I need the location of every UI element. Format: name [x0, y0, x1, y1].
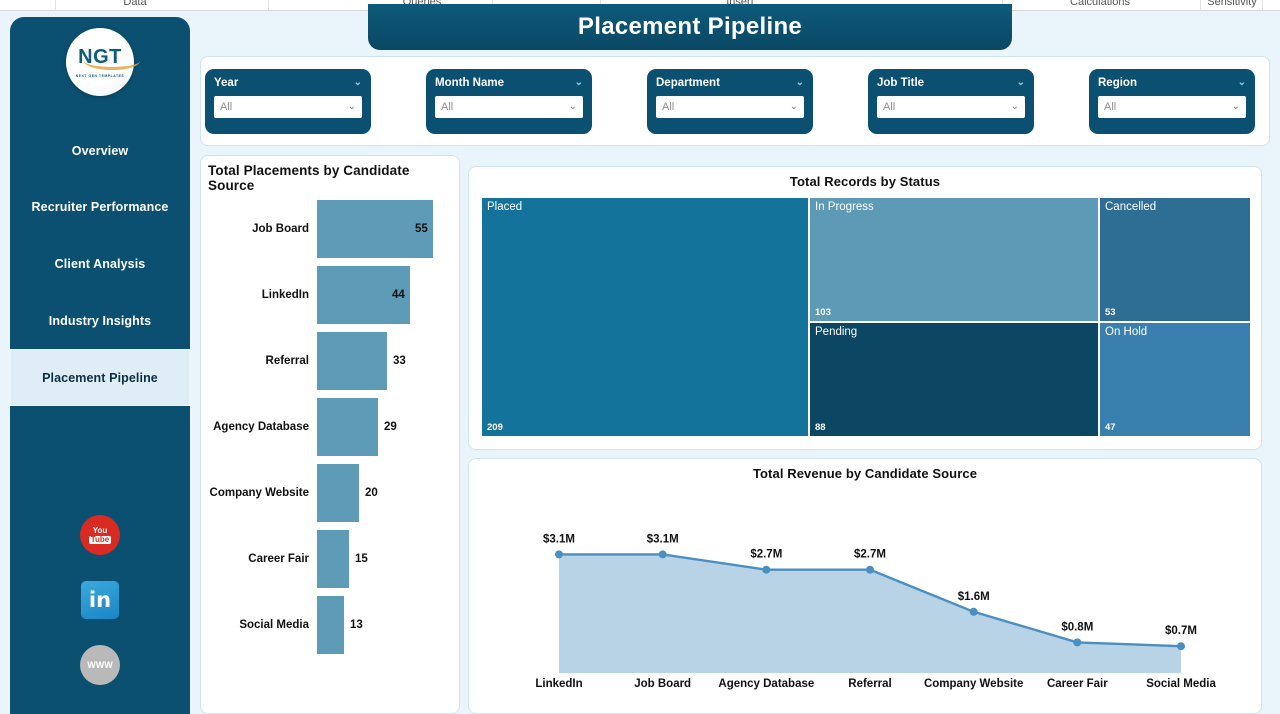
ribbon-group-data[interactable]: Data	[123, 0, 146, 8]
slicer-dropdown-job-title[interactable]: All⌄	[877, 96, 1025, 118]
bar-fill[interactable]	[317, 398, 378, 456]
revenue-data-label: $3.1M	[543, 533, 575, 545]
slicer-header: Month Name⌄	[435, 77, 583, 89]
bar-value-label: 20	[365, 487, 378, 499]
x-axis-tick-label: Career Fair	[1026, 677, 1130, 713]
placements-bar-rows: Job Board55LinkedIn44Referral33Agency Da…	[201, 196, 459, 701]
website-icon-glyph: WWW	[87, 660, 112, 670]
revenue-data-point[interactable]	[555, 550, 563, 558]
ribbon-divider	[1262, 0, 1263, 11]
revenue-data-point[interactable]	[970, 608, 978, 616]
filter-bar: Year⌄All⌄Month Name⌄All⌄Department⌄All⌄J…	[200, 56, 1270, 146]
placements-chart-title: Total Placements by Candidate Source	[201, 156, 459, 193]
treemap-tile-value: 209	[487, 422, 503, 433]
website-icon[interactable]: WWW	[80, 645, 120, 685]
treemap-tile-value: 103	[815, 307, 831, 318]
revenue-area-svg: $3.1M$3.1M$2.7M$2.7M$1.6M$0.8M$0.7M	[469, 485, 1263, 685]
slicer-header: Year⌄	[214, 77, 362, 89]
bar-category-label: Company Website	[201, 487, 317, 499]
slicer-header: Job Title⌄	[877, 77, 1025, 89]
treemap-tile-label: Placed	[487, 201, 522, 213]
page-title-banner: Placement Pipeline	[368, 4, 1012, 50]
slicer-header: Region⌄	[1098, 77, 1246, 89]
x-axis-tick-label: Referral	[818, 677, 922, 713]
bar-category-label: Career Fair	[201, 553, 317, 565]
revenue-data-label: $2.7M	[854, 549, 886, 561]
sidebar-item-placement-pipeline[interactable]: Placement Pipeline	[10, 349, 190, 406]
ribbon-group-calculations[interactable]: Calculations	[1070, 0, 1130, 8]
x-axis-tick-label: Agency Database	[715, 677, 819, 713]
slicer-value: All	[220, 101, 232, 113]
youtube-icon-line1: You	[93, 527, 108, 535]
revenue-chart-title: Total Revenue by Candidate Source	[469, 459, 1261, 481]
bar-value-label: 15	[355, 553, 368, 565]
slicer-value: All	[1104, 101, 1116, 113]
sidebar-item-overview[interactable]: Overview	[10, 122, 190, 179]
sidebar: NGT NEXT GEN TEMPLATES OverviewRecruiter…	[10, 17, 190, 714]
sidebar-item-label: Industry Insights	[49, 314, 151, 328]
slicer-region[interactable]: Region⌄All⌄	[1089, 69, 1255, 134]
revenue-data-point[interactable]	[1073, 638, 1081, 646]
slicer-month-name[interactable]: Month Name⌄All⌄	[426, 69, 592, 134]
slicer-header: Department⌄	[656, 77, 804, 89]
bar-track: 13	[317, 592, 459, 658]
revenue-data-point[interactable]	[762, 566, 770, 574]
treemap-tile-cancelled[interactable]: Cancelled53	[1099, 197, 1251, 322]
revenue-data-label: $3.1M	[647, 533, 679, 545]
slicer-value: All	[662, 101, 674, 113]
bar-category-label: Agency Database	[201, 421, 317, 433]
chevron-down-icon[interactable]: ⌄	[1232, 102, 1240, 112]
bar-category-label: Referral	[201, 355, 317, 367]
bar-row[interactable]: Company Website20	[201, 460, 459, 526]
slicer-job-title[interactable]: Job Title⌄All⌄	[868, 69, 1034, 134]
chevron-down-icon[interactable]: ⌄	[790, 102, 798, 112]
sidebar-item-industry-insights[interactable]: Industry Insights	[10, 292, 190, 349]
chevron-down-icon[interactable]: ⌄	[569, 102, 577, 112]
slicer-value: All	[441, 101, 453, 113]
treemap-tile-pending[interactable]: Pending88	[809, 322, 1099, 437]
ribbon-divider	[1200, 0, 1201, 11]
treemap-tile-placed[interactable]: Placed209	[481, 197, 809, 437]
revenue-data-point[interactable]	[866, 566, 874, 574]
bar-value-label: 55	[415, 223, 428, 235]
bar-track: 29	[317, 394, 459, 460]
bar-track: 15	[317, 526, 459, 592]
report-canvas: Placement Pipeline NGT NEXT GEN TEMPLATE…	[0, 11, 1280, 714]
revenue-x-axis: LinkedInJob BoardAgency DatabaseReferral…	[469, 677, 1263, 713]
treemap-tile-label: Pending	[815, 326, 857, 338]
revenue-data-label: $0.7M	[1165, 625, 1197, 637]
bar-row[interactable]: Career Fair15	[201, 526, 459, 592]
x-axis-tick-label: LinkedIn	[507, 677, 611, 713]
bar-fill[interactable]	[317, 596, 344, 654]
treemap-tile-in-progress[interactable]: In Progress103	[809, 197, 1099, 322]
bar-value-label: 33	[393, 355, 406, 367]
logo: NGT NEXT GEN TEMPLATES	[66, 28, 134, 96]
chevron-down-icon[interactable]: ⌄	[1238, 78, 1246, 88]
bar-row[interactable]: Job Board55	[201, 196, 459, 262]
sidebar-item-label: Client Analysis	[55, 257, 146, 271]
chevron-down-icon[interactable]: ⌄	[354, 78, 362, 88]
logo-swoosh-icon	[84, 61, 140, 70]
linkedin-icon-glyph: in	[81, 581, 119, 619]
treemap-tile-label: In Progress	[815, 201, 874, 213]
sidebar-item-recruiter-performance[interactable]: Recruiter Performance	[10, 178, 190, 235]
revenue-area-plot: $3.1M$3.1M$2.7M$2.7M$1.6M$0.8M$0.7M	[469, 485, 1263, 685]
slicer-dropdown-region[interactable]: All⌄	[1098, 96, 1246, 118]
slicer-department[interactable]: Department⌄All⌄	[647, 69, 813, 134]
bar-category-label: Job Board	[201, 223, 317, 235]
chevron-down-icon[interactable]: ⌄	[575, 78, 583, 88]
x-axis-tick-label: Company Website	[922, 677, 1026, 713]
records-by-status-treemap: Total Records by Status Placed209In Prog…	[468, 166, 1262, 450]
treemap-tile-on-hold[interactable]: On Hold47	[1099, 322, 1251, 437]
slicer-value: All	[883, 101, 895, 113]
slicer-dropdown-department[interactable]: All⌄	[656, 96, 804, 118]
ribbon-divider	[55, 0, 56, 11]
chevron-down-icon[interactable]: ⌄	[796, 78, 804, 88]
revenue-data-label: $2.7M	[750, 549, 782, 561]
bar-row[interactable]: Social Media13	[201, 592, 459, 658]
treemap-tile-label: Cancelled	[1105, 201, 1156, 213]
bar-track: 44	[317, 262, 459, 328]
linkedin-icon[interactable]: in	[80, 580, 120, 620]
slicer-label: Job Title	[877, 77, 924, 89]
bar-fill[interactable]	[317, 464, 359, 522]
treemap-tile-value: 88	[815, 422, 826, 433]
logo-mark: NGT	[78, 47, 122, 67]
slicer-label: Department	[656, 77, 720, 89]
bar-row[interactable]: Agency Database29	[201, 394, 459, 460]
slicer-year[interactable]: Year⌄All⌄	[205, 69, 371, 134]
placements-by-source-chart: Total Placements by Candidate Source Job…	[200, 155, 460, 714]
sidebar-item-label: Placement Pipeline	[42, 371, 158, 385]
bar-value-label: 44	[392, 289, 405, 301]
bar-track: 33	[317, 328, 459, 394]
treemap-tile-value: 53	[1105, 307, 1116, 318]
page-title: Placement Pipeline	[578, 13, 802, 41]
slicer-label: Region	[1098, 77, 1137, 89]
bar-track: 55	[317, 196, 459, 262]
ribbon-divider	[268, 0, 269, 11]
slicer-label: Year	[214, 77, 238, 89]
bar-row[interactable]: LinkedIn44	[201, 262, 459, 328]
revenue-data-label: $1.6M	[958, 591, 990, 603]
chevron-down-icon[interactable]: ⌄	[1017, 78, 1025, 88]
bar-track: 20	[317, 460, 459, 526]
youtube-icon-line2: Tube	[89, 536, 112, 544]
slicer-dropdown-month-name[interactable]: All⌄	[435, 96, 583, 118]
x-axis-tick-label: Social Media	[1129, 677, 1233, 713]
bar-row[interactable]: Referral33	[201, 328, 459, 394]
slicer-dropdown-year[interactable]: All⌄	[214, 96, 362, 118]
chevron-down-icon[interactable]: ⌄	[348, 102, 356, 112]
sidebar-item-client-analysis[interactable]: Client Analysis	[10, 235, 190, 292]
bar-fill[interactable]	[317, 332, 387, 390]
bar-fill[interactable]	[317, 530, 349, 588]
revenue-data-label: $0.8M	[1061, 621, 1093, 633]
sidebar-item-label: Overview	[72, 144, 128, 158]
revenue-data-point[interactable]	[1177, 642, 1185, 650]
chevron-down-icon[interactable]: ⌄	[1011, 102, 1019, 112]
revenue-data-point[interactable]	[659, 550, 667, 558]
bar-value-label: 29	[384, 421, 397, 433]
bar-category-label: Social Media	[201, 619, 317, 631]
ribbon-group-sensitivity[interactable]: Sensitivity	[1207, 0, 1257, 8]
youtube-icon[interactable]: You Tube	[80, 515, 120, 555]
treemap-plot: Placed209In Progress103Cancelled53Pendin…	[481, 197, 1251, 437]
logo-tagline: NEXT GEN TEMPLATES	[76, 74, 124, 78]
slicer-label: Month Name	[435, 77, 504, 89]
x-axis-tick-label: Job Board	[611, 677, 715, 713]
sidebar-item-label: Recruiter Performance	[32, 200, 169, 214]
bar-value-label: 13	[350, 619, 363, 631]
treemap-title: Total Records by Status	[469, 167, 1261, 189]
bar-category-label: LinkedIn	[201, 289, 317, 301]
treemap-tile-value: 47	[1105, 422, 1116, 433]
treemap-tile-label: On Hold	[1105, 326, 1147, 338]
revenue-by-source-chart: Total Revenue by Candidate Source $3.1M$…	[468, 458, 1262, 714]
